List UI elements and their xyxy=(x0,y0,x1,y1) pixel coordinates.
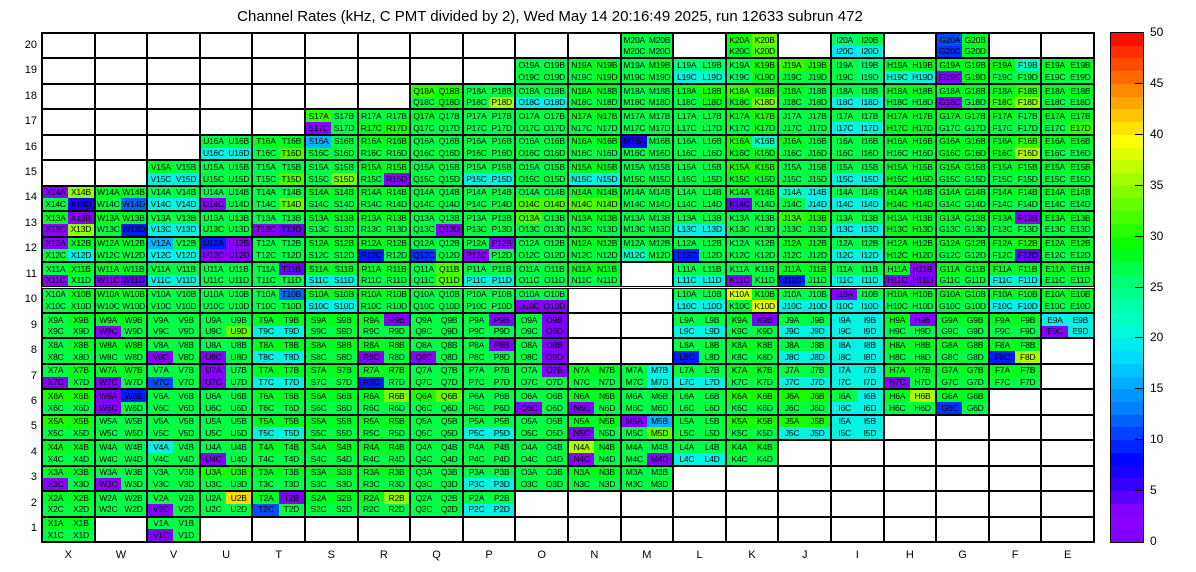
channel-M19A[interactable]: M19A xyxy=(622,59,647,71)
channel-cell-M3[interactable]: M3AM3BM3CM3D xyxy=(621,466,674,491)
channel-S15C[interactable]: S15C xyxy=(306,173,331,185)
channel-E17C[interactable]: E17C xyxy=(1042,122,1067,134)
channel-cell-N19[interactable]: N19AN19BN19CN19D xyxy=(568,58,621,83)
channel-P9B[interactable]: P9B xyxy=(489,314,514,326)
channel-P18A[interactable]: P18A xyxy=(464,85,489,97)
channel-R16C[interactable]: R16C xyxy=(359,148,384,160)
channel-M15B[interactable]: M15B xyxy=(647,161,672,173)
channel-cell-X1[interactable]: X1AX1BX1CX1D xyxy=(42,517,95,542)
channel-N11B[interactable]: N11B xyxy=(594,263,619,275)
channel-R8A[interactable]: R8A xyxy=(359,339,384,351)
channel-F14D[interactable]: F14D xyxy=(1015,198,1040,210)
channel-Q2D[interactable]: Q2D xyxy=(436,504,461,516)
channel-K5B[interactable]: K5B xyxy=(752,416,777,428)
channel-cell-S17[interactable]: S17AS17BS17CS17D xyxy=(305,109,358,134)
channel-K12B[interactable]: K12B xyxy=(752,238,777,250)
channel-F12A[interactable]: F12A xyxy=(990,238,1015,250)
channel-X8C[interactable]: X8C xyxy=(43,351,68,363)
channel-F11A[interactable]: F11A xyxy=(990,263,1015,275)
channel-V8D[interactable]: V8D xyxy=(173,351,198,363)
channel-cell-M16[interactable]: M16AM16BM16CM16D xyxy=(621,135,674,160)
channel-cell-Q15[interactable]: Q15AQ15BQ15CQ15D xyxy=(410,160,463,185)
channel-cell-I19[interactable]: I19AI19BI19CI19D xyxy=(831,58,884,83)
channel-S15D[interactable]: S15D xyxy=(331,173,356,185)
channel-Q9C[interactable]: Q9C xyxy=(411,326,436,338)
channel-U15A[interactable]: U15A xyxy=(201,161,226,173)
channel-G6C[interactable]: G6C xyxy=(937,402,962,414)
channel-Q16A[interactable]: Q16A xyxy=(411,136,436,148)
channel-G19A[interactable]: G19A xyxy=(937,59,962,71)
channel-Q10C[interactable]: Q10C xyxy=(411,300,436,312)
channel-P10D[interactable]: P10D xyxy=(489,300,514,312)
channel-K6D[interactable]: K6D xyxy=(752,402,777,414)
channel-T9B[interactable]: T9B xyxy=(279,314,304,326)
channel-X12B[interactable]: X12B xyxy=(68,238,93,250)
channel-H9B[interactable]: H9B xyxy=(910,314,935,326)
channel-cell-Q2[interactable]: Q2AQ2BQ2CQ2D xyxy=(410,491,463,516)
channel-cell-O7[interactable]: O7AO7BO7CO7D xyxy=(515,364,568,389)
channel-S8B[interactable]: S8B xyxy=(331,339,356,351)
channel-cell-S9[interactable]: S9AS9BS9CS9D xyxy=(305,313,358,338)
channel-U8B[interactable]: U8B xyxy=(226,339,251,351)
channel-V14A[interactable]: V14A xyxy=(148,187,173,199)
channel-K16A[interactable]: K16A xyxy=(727,136,752,148)
channel-X12D[interactable]: X12D xyxy=(68,249,93,261)
channel-cell-J15[interactable]: J15AJ15BJ15CJ15D xyxy=(778,160,831,185)
channel-F15A[interactable]: F15A xyxy=(990,161,1015,173)
channel-L6A[interactable]: L6A xyxy=(674,390,699,402)
channel-Q6C[interactable]: Q6C xyxy=(411,402,436,414)
channel-L15C[interactable]: L15C xyxy=(674,173,699,185)
channel-R17D[interactable]: R17D xyxy=(384,122,409,134)
channel-cell-H7[interactable]: H7AH7BH7CH7D xyxy=(884,364,937,389)
channel-F11C[interactable]: F11C xyxy=(990,275,1015,287)
channel-H17D[interactable]: H17D xyxy=(910,122,935,134)
channel-J12B[interactable]: J12B xyxy=(805,238,830,250)
channel-cell-E15[interactable]: E15AE15BE15CE15D xyxy=(1041,160,1094,185)
channel-R13A[interactable]: R13A xyxy=(359,212,384,224)
channel-cell-E19[interactable]: E19AE19BE19CE19D xyxy=(1041,58,1094,83)
channel-K14A[interactable]: K14A xyxy=(727,187,752,199)
channel-G17D[interactable]: G17D xyxy=(962,122,987,134)
channel-V7C[interactable]: V7C xyxy=(148,377,173,389)
channel-E11A[interactable]: E11A xyxy=(1042,263,1067,275)
channel-cell-K15[interactable]: K15AK15BK15CK15D xyxy=(726,160,779,185)
channel-W3D[interactable]: W3D xyxy=(121,478,146,490)
channel-K13B[interactable]: K13B xyxy=(752,212,777,224)
channel-R12D[interactable]: R12D xyxy=(384,249,409,261)
channel-M6A[interactable]: M6A xyxy=(622,390,647,402)
channel-V14D[interactable]: V14D xyxy=(173,198,198,210)
channel-I20C[interactable]: I20C xyxy=(832,46,857,58)
channel-cell-N7[interactable]: N7AN7BN7CN7D xyxy=(568,364,621,389)
channel-cell-G15[interactable]: G15AG15BG15CG15D xyxy=(936,160,989,185)
channel-E14C[interactable]: E14C xyxy=(1042,198,1067,210)
channel-G16B[interactable]: G16B xyxy=(962,136,987,148)
channel-X1B[interactable]: X1B xyxy=(68,518,93,530)
channel-P3D[interactable]: P3D xyxy=(489,478,514,490)
channel-L7B[interactable]: L7B xyxy=(699,365,724,377)
channel-cell-P15[interactable]: P15AP15BP15CP15D xyxy=(463,160,516,185)
channel-cell-O19[interactable]: O19AO19BO19CO19D xyxy=(515,58,568,83)
channel-N7C[interactable]: N7C xyxy=(569,377,594,389)
channel-cell-T4[interactable]: T4AT4BT4CT4D xyxy=(252,440,305,465)
channel-V12C[interactable]: V12C xyxy=(148,249,173,261)
channel-X6C[interactable]: X6C xyxy=(43,402,68,414)
channel-N7D[interactable]: N7D xyxy=(594,377,619,389)
channel-R2A[interactable]: R2A xyxy=(359,492,384,504)
channel-Q3D[interactable]: Q3D xyxy=(436,478,461,490)
channel-cell-T6[interactable]: T6AT6BT6CT6D xyxy=(252,389,305,414)
channel-E10D[interactable]: E10D xyxy=(1068,300,1093,312)
channel-G14A[interactable]: G14A xyxy=(937,187,962,199)
channel-K12D[interactable]: K12D xyxy=(752,249,777,261)
channel-cell-V7[interactable]: V7AV7BV7CV7D xyxy=(147,364,200,389)
channel-S12A[interactable]: S12A xyxy=(306,238,331,250)
channel-P4B[interactable]: P4B xyxy=(489,441,514,453)
channel-cell-U9[interactable]: U9AU9BU9CU9D xyxy=(200,313,253,338)
channel-cell-L12[interactable]: L12AL12BL12CL12D xyxy=(673,237,726,262)
channel-K11D[interactable]: K11D xyxy=(752,275,777,287)
channel-cell-I11[interactable]: I11AI11BI11CI11D xyxy=(831,262,884,287)
channel-V5A[interactable]: V5A xyxy=(148,416,173,428)
channel-O10A[interactable]: O10A xyxy=(516,289,541,301)
channel-S14D[interactable]: S14D xyxy=(331,198,356,210)
channel-N4D[interactable]: N4D xyxy=(594,453,619,465)
channel-cell-M19[interactable]: M19AM19BM19CM19D xyxy=(621,58,674,83)
channel-I5C[interactable]: I5C xyxy=(832,427,857,439)
channel-cell-K14[interactable]: K14AK14BK14CK14D xyxy=(726,186,779,211)
channel-Q8C[interactable]: Q8C xyxy=(411,351,436,363)
channel-U11B[interactable]: U11B xyxy=(226,263,251,275)
channel-T4B[interactable]: T4B xyxy=(279,441,304,453)
channel-cell-F10[interactable]: F10AF10BF10CF10D xyxy=(989,288,1042,313)
channel-cell-T15[interactable]: T15AT15BT15CT15D xyxy=(252,160,305,185)
channel-X7B[interactable]: X7B xyxy=(68,365,93,377)
channel-S7B[interactable]: S7B xyxy=(331,365,356,377)
channel-V14B[interactable]: V14B xyxy=(173,187,198,199)
channel-T4A[interactable]: T4A xyxy=(253,441,278,453)
channel-cell-J7[interactable]: J7AJ7BJ7CJ7D xyxy=(778,364,831,389)
channel-V9B[interactable]: V9B xyxy=(173,314,198,326)
channel-K20C[interactable]: K20C xyxy=(727,46,752,58)
channel-S4D[interactable]: S4D xyxy=(331,453,356,465)
channel-F13D[interactable]: F13D xyxy=(1015,224,1040,236)
channel-H7C[interactable]: H7C xyxy=(885,377,910,389)
channel-R8B[interactable]: R8B xyxy=(384,339,409,351)
channel-cell-L7[interactable]: L7AL7BL7CL7D xyxy=(673,364,726,389)
channel-cell-U10[interactable]: U10AU10BU10CU10D xyxy=(200,288,253,313)
channel-E9B[interactable]: E9B xyxy=(1068,314,1093,326)
channel-H8A[interactable]: H8A xyxy=(885,339,910,351)
channel-O15D[interactable]: O15D xyxy=(542,173,567,185)
channel-U3B[interactable]: U3B xyxy=(226,467,251,479)
channel-R15A[interactable]: R15A xyxy=(359,161,384,173)
channel-L12D[interactable]: L12D xyxy=(699,249,724,261)
channel-H12D[interactable]: H12D xyxy=(910,249,935,261)
channel-Q12C[interactable]: Q12C xyxy=(411,249,436,261)
channel-X5C[interactable]: X5C xyxy=(43,427,68,439)
channel-H17A[interactable]: H17A xyxy=(885,110,910,122)
channel-S7C[interactable]: S7C xyxy=(306,377,331,389)
channel-O19D[interactable]: O19D xyxy=(542,71,567,83)
channel-S16B[interactable]: S16B xyxy=(331,136,356,148)
channel-I12D[interactable]: I12D xyxy=(857,249,882,261)
channel-U12A[interactable]: U12A xyxy=(201,238,226,250)
channel-T16A[interactable]: T16A xyxy=(253,136,278,148)
channel-cell-U14[interactable]: U14AU14BU14CU14D xyxy=(200,186,253,211)
channel-cell-E12[interactable]: E12AE12BE12CE12D xyxy=(1041,237,1094,262)
channel-L10A[interactable]: L10A xyxy=(674,289,699,301)
channel-cell-G13[interactable]: G13AG13BG13CG13D xyxy=(936,211,989,236)
channel-cell-F17[interactable]: F17AF17BF17CF17D xyxy=(989,109,1042,134)
channel-G19B[interactable]: G19B xyxy=(962,59,987,71)
channel-U7D[interactable]: U7D xyxy=(226,377,251,389)
channel-R16A[interactable]: R16A xyxy=(359,136,384,148)
channel-R5A[interactable]: R5A xyxy=(359,416,384,428)
channel-U5D[interactable]: U5D xyxy=(226,427,251,439)
channel-L16C[interactable]: L16C xyxy=(674,148,699,160)
channel-Q4B[interactable]: Q4B xyxy=(436,441,461,453)
channel-K7D[interactable]: K7D xyxy=(752,377,777,389)
channel-I14C[interactable]: I14C xyxy=(832,198,857,210)
channel-Q14A[interactable]: Q14A xyxy=(411,187,436,199)
channel-O8C[interactable]: O8C xyxy=(516,351,541,363)
channel-F11B[interactable]: F11B xyxy=(1015,263,1040,275)
channel-H7D[interactable]: H7D xyxy=(910,377,935,389)
channel-cell-O17[interactable]: O17AO17BO17CO17D xyxy=(515,109,568,134)
channel-cell-E17[interactable]: E17AE17BE17CE17D xyxy=(1041,109,1094,134)
channel-cell-V5[interactable]: V5AV5BV5CV5D xyxy=(147,415,200,440)
channel-M18C[interactable]: M18C xyxy=(622,97,647,109)
channel-L18D[interactable]: L18D xyxy=(699,97,724,109)
channel-I15D[interactable]: I15D xyxy=(857,173,882,185)
channel-O3A[interactable]: O3A xyxy=(516,467,541,479)
channel-F19C[interactable]: F19C xyxy=(990,71,1015,83)
channel-N6B[interactable]: N6B xyxy=(594,390,619,402)
channel-F8B[interactable]: F8B xyxy=(1015,339,1040,351)
channel-M14B[interactable]: M14B xyxy=(647,187,672,199)
channel-F10D[interactable]: F10D xyxy=(1015,300,1040,312)
channel-F8D[interactable]: F8D xyxy=(1015,351,1040,363)
channel-cell-H10[interactable]: H10AH10BH10CH10D xyxy=(884,288,937,313)
channel-U6B[interactable]: U6B xyxy=(226,390,251,402)
channel-K16D[interactable]: K16D xyxy=(752,148,777,160)
channel-M20D[interactable]: M20D xyxy=(647,46,672,58)
channel-W5C[interactable]: W5C xyxy=(96,427,121,439)
channel-T12D[interactable]: T12D xyxy=(279,249,304,261)
channel-N11D[interactable]: N11D xyxy=(594,275,619,287)
channel-cell-X10[interactable]: X10AX10BX10CX10D xyxy=(42,288,95,313)
channel-F18D[interactable]: F18D xyxy=(1015,97,1040,109)
channel-I5B[interactable]: I5B xyxy=(857,416,882,428)
channel-K20B[interactable]: K20B xyxy=(752,34,777,46)
channel-S8C[interactable]: S8C xyxy=(306,351,331,363)
channel-R12B[interactable]: R12B xyxy=(384,238,409,250)
channel-cell-N18[interactable]: N18AN18BN18CN18D xyxy=(568,84,621,109)
channel-G14D[interactable]: G14D xyxy=(962,198,987,210)
channel-V11C[interactable]: V11C xyxy=(148,275,173,287)
channel-I17A[interactable]: I17A xyxy=(832,110,857,122)
channel-cell-Q14[interactable]: Q14AQ14BQ14CQ14D xyxy=(410,186,463,211)
channel-G6A[interactable]: G6A xyxy=(937,390,962,402)
channel-V10D[interactable]: V10D xyxy=(173,300,198,312)
channel-H8C[interactable]: H8C xyxy=(885,351,910,363)
channel-H14D[interactable]: H14D xyxy=(910,198,935,210)
channel-cell-J19[interactable]: J19AJ19BJ19CJ19D xyxy=(778,58,831,83)
channel-L6C[interactable]: L6C xyxy=(674,402,699,414)
channel-Q13A[interactable]: Q13A xyxy=(411,212,436,224)
channel-cell-N17[interactable]: N17AN17BN17CN17D xyxy=(568,109,621,134)
channel-L8A[interactable]: L8A xyxy=(674,339,699,351)
channel-V4A[interactable]: V4A xyxy=(148,441,173,453)
channel-J17C[interactable]: J17C xyxy=(779,122,804,134)
channel-N13D[interactable]: N13D xyxy=(594,224,619,236)
channel-U4B[interactable]: U4B xyxy=(226,441,251,453)
channel-F14C[interactable]: F14C xyxy=(990,198,1015,210)
channel-W10D[interactable]: W10D xyxy=(121,300,146,312)
channel-J12A[interactable]: J12A xyxy=(779,238,804,250)
channel-K10D[interactable]: K10D xyxy=(752,300,777,312)
channel-cell-Q12[interactable]: Q12AQ12BQ12CQ12D xyxy=(410,237,463,262)
channel-L8B[interactable]: L8B xyxy=(699,339,724,351)
channel-cell-N14[interactable]: N14AN14BN14CN14D xyxy=(568,186,621,211)
channel-W8C[interactable]: W8C xyxy=(96,351,121,363)
channel-T6C[interactable]: T6C xyxy=(253,402,278,414)
channel-K19D[interactable]: K19D xyxy=(752,71,777,83)
channel-I17D[interactable]: I17D xyxy=(857,122,882,134)
channel-U15B[interactable]: U15B xyxy=(226,161,251,173)
channel-I19B[interactable]: I19B xyxy=(857,59,882,71)
channel-P2D[interactable]: P2D xyxy=(489,504,514,516)
channel-cell-O12[interactable]: O12AO12BO12CO12D xyxy=(515,237,568,262)
channel-cell-L17[interactable]: L17AL17BL17CL17D xyxy=(673,109,726,134)
channel-J10A[interactable]: J10A xyxy=(779,289,804,301)
channel-H6B[interactable]: H6B xyxy=(910,390,935,402)
channel-cell-E14[interactable]: E14AE14BE14CE14D xyxy=(1041,186,1094,211)
channel-O14B[interactable]: O14B xyxy=(542,187,567,199)
channel-W9D[interactable]: W9D xyxy=(121,326,146,338)
channel-cell-J8[interactable]: J8AJ8BJ8CJ8D xyxy=(778,338,831,363)
channel-cell-F13[interactable]: F13AF13BF13CF13D xyxy=(989,211,1042,236)
channel-H9C[interactable]: H9C xyxy=(885,326,910,338)
channel-H19C[interactable]: H19C xyxy=(885,71,910,83)
channel-O18A[interactable]: O18A xyxy=(516,85,541,97)
channel-O11A[interactable]: O11A xyxy=(516,263,541,275)
channel-F12C[interactable]: F12C xyxy=(990,249,1015,261)
channel-cell-H17[interactable]: H17AH17BH17CH17D xyxy=(884,109,937,134)
channel-K16C[interactable]: K16C xyxy=(727,148,752,160)
channel-U12D[interactable]: U12D xyxy=(226,249,251,261)
channel-N18C[interactable]: N18C xyxy=(569,97,594,109)
channel-S2A[interactable]: S2A xyxy=(306,492,331,504)
channel-N13B[interactable]: N13B xyxy=(594,212,619,224)
channel-cell-V15[interactable]: V15AV15BV15CV15D xyxy=(147,160,200,185)
channel-U2B[interactable]: U2B xyxy=(226,492,251,504)
channel-cell-L16[interactable]: L16AL16BL16CL16D xyxy=(673,135,726,160)
channel-S13C[interactable]: S13C xyxy=(306,224,331,236)
channel-Q15D[interactable]: Q15D xyxy=(436,173,461,185)
channel-M5B[interactable]: M5B xyxy=(647,416,672,428)
channel-N16C[interactable]: N16C xyxy=(569,148,594,160)
channel-R12C[interactable]: R12C xyxy=(359,249,384,261)
channel-cell-T9[interactable]: T9AT9BT9CT9D xyxy=(252,313,305,338)
channel-cell-L19[interactable]: L19AL19BL19CL19D xyxy=(673,58,726,83)
channel-E15B[interactable]: E15B xyxy=(1068,161,1093,173)
channel-X11C[interactable]: X11C xyxy=(43,275,68,287)
channel-U2A[interactable]: U2A xyxy=(201,492,226,504)
channel-cell-K7[interactable]: K7AK7BK7CK7D xyxy=(726,364,779,389)
channel-V10B[interactable]: V10B xyxy=(173,289,198,301)
channel-O3B[interactable]: O3B xyxy=(542,467,567,479)
channel-H12B[interactable]: H12B xyxy=(910,238,935,250)
channel-R11A[interactable]: R11A xyxy=(359,263,384,275)
channel-L16D[interactable]: L16D xyxy=(699,148,724,160)
channel-E15C[interactable]: E15C xyxy=(1042,173,1067,185)
channel-E15D[interactable]: E15D xyxy=(1068,173,1093,185)
channel-J5B[interactable]: J5B xyxy=(805,416,830,428)
channel-P5C[interactable]: P5C xyxy=(464,427,489,439)
channel-K18A[interactable]: K18A xyxy=(727,85,752,97)
channel-E16D[interactable]: E16D xyxy=(1068,148,1093,160)
channel-M5D[interactable]: M5D xyxy=(647,427,672,439)
channel-O9A[interactable]: O9A xyxy=(516,314,541,326)
channel-E13B[interactable]: E13B xyxy=(1068,212,1093,224)
channel-K17D[interactable]: K17D xyxy=(752,122,777,134)
channel-O5A[interactable]: O5A xyxy=(516,416,541,428)
channel-O7A[interactable]: O7A xyxy=(516,365,541,377)
channel-R4B[interactable]: R4B xyxy=(384,441,409,453)
channel-W4B[interactable]: W4B xyxy=(121,441,146,453)
channel-H6C[interactable]: H6C xyxy=(885,402,910,414)
channel-R7D[interactable]: R7D xyxy=(384,377,409,389)
channel-cell-V8[interactable]: V8AV8BV8CV8D xyxy=(147,338,200,363)
channel-O17C[interactable]: O17C xyxy=(516,122,541,134)
channel-cell-T16[interactable]: T16AT16BT16CT16D xyxy=(252,135,305,160)
channel-P15C[interactable]: P15C xyxy=(464,173,489,185)
channel-I17C[interactable]: I17C xyxy=(832,122,857,134)
channel-M3C[interactable]: M3C xyxy=(622,478,647,490)
channel-cell-H8[interactable]: H8AH8BH8CH8D xyxy=(884,338,937,363)
channel-T11C[interactable]: T11C xyxy=(253,275,278,287)
channel-G16D[interactable]: G16D xyxy=(962,148,987,160)
channel-R9B[interactable]: R9B xyxy=(384,314,409,326)
channel-Q14B[interactable]: Q14B xyxy=(436,187,461,199)
channel-cell-K19[interactable]: K19AK19BK19CK19D xyxy=(726,58,779,83)
channel-F9D[interactable]: F9D xyxy=(1015,326,1040,338)
channel-K6B[interactable]: K6B xyxy=(752,390,777,402)
channel-H9D[interactable]: H9D xyxy=(910,326,935,338)
channel-N19B[interactable]: N19B xyxy=(594,59,619,71)
channel-W13C[interactable]: W13C xyxy=(96,224,121,236)
channel-V4B[interactable]: V4B xyxy=(173,441,198,453)
channel-U3C[interactable]: U3C xyxy=(201,478,226,490)
channel-cell-X8[interactable]: X8AX8BX8CX8D xyxy=(42,338,95,363)
channel-U9B[interactable]: U9B xyxy=(226,314,251,326)
channel-X7D[interactable]: X7D xyxy=(68,377,93,389)
channel-cell-W11[interactable]: W11AW11BW11CW11D xyxy=(95,262,148,287)
channel-K15B[interactable]: K15B xyxy=(752,161,777,173)
channel-cell-Q18[interactable]: Q18AQ18BQ18CQ18D xyxy=(410,84,463,109)
channel-S14C[interactable]: S14C xyxy=(306,198,331,210)
channel-cell-O3[interactable]: O3AO3BO3CO3D xyxy=(515,466,568,491)
channel-V4D[interactable]: V4D xyxy=(173,453,198,465)
channel-cell-W4[interactable]: W4AW4BW4CW4D xyxy=(95,440,148,465)
channel-G7A[interactable]: G7A xyxy=(937,365,962,377)
channel-Q5B[interactable]: Q5B xyxy=(436,416,461,428)
channel-cell-G10[interactable]: G10AG10BG10CG10D xyxy=(936,288,989,313)
channel-I15B[interactable]: I15B xyxy=(857,161,882,173)
